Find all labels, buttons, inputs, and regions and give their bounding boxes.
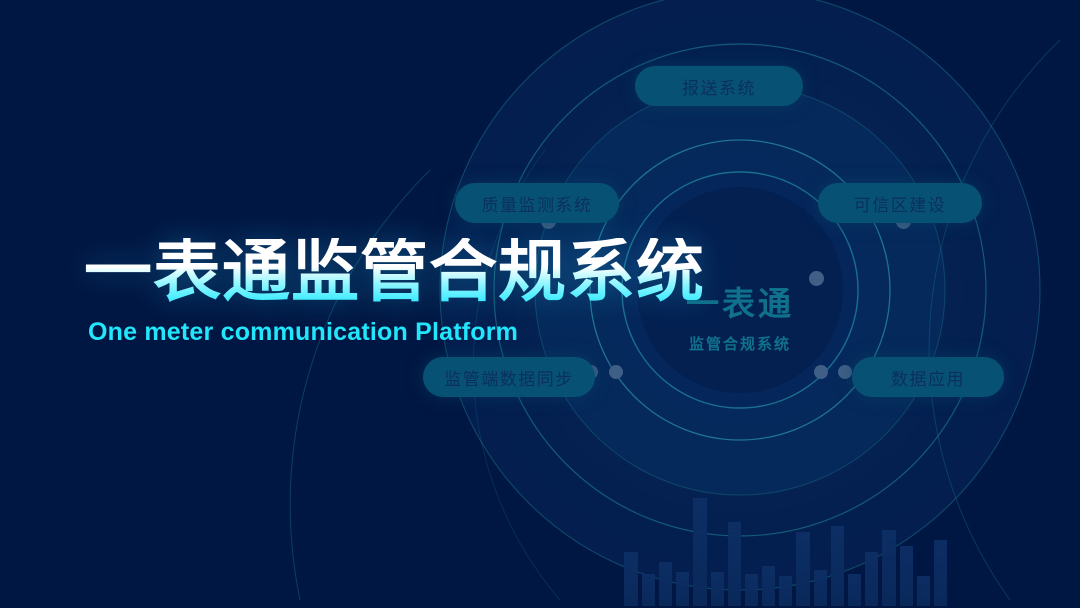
connector-dot-4 — [609, 365, 623, 379]
page-subtitle: One meter communication Platform — [88, 318, 724, 347]
slide-canvas: 一表通监管合规系统 One meter communication Platfo… — [0, 0, 1080, 608]
decorative-bar-chart — [624, 498, 947, 606]
node-pill-baosong-label: 报送系统 — [682, 74, 756, 99]
node-pill-yingyong-label: 数据应用 — [891, 365, 965, 390]
node-pill-zhiliang[interactable]: 质量监测系统 — [455, 183, 619, 223]
title-block: 一表通监管合规系统 One meter communication Platfo… — [84, 238, 724, 347]
connector-dot-5 — [814, 365, 828, 379]
node-pill-zhiliang-label: 质量监测系统 — [482, 191, 593, 216]
node-pill-kexinqu[interactable]: 可信区建设 — [818, 183, 982, 223]
connector-dot-2 — [809, 271, 824, 286]
node-pill-yingyong[interactable]: 数据应用 — [852, 357, 1004, 397]
node-pill-tongbu-label: 监管端数据同步 — [444, 365, 574, 390]
connector-dot-6 — [838, 365, 852, 379]
node-pill-baosong[interactable]: 报送系统 — [635, 66, 803, 106]
page-title: 一表通监管合规系统 — [84, 238, 724, 306]
node-pill-kexinqu-label: 可信区建设 — [854, 191, 947, 216]
node-pill-tongbu[interactable]: 监管端数据同步 — [423, 357, 595, 397]
